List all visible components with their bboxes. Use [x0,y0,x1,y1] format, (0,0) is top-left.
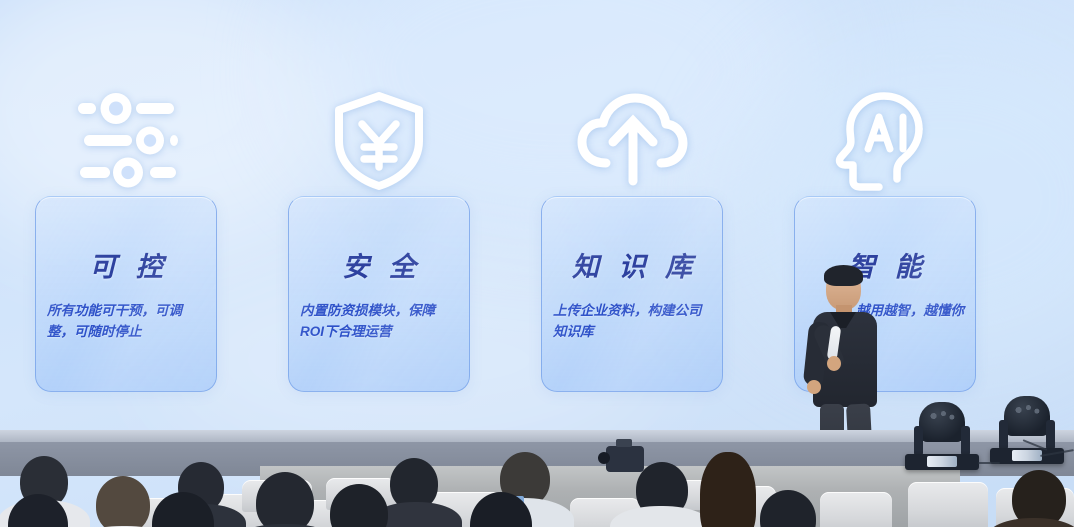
light-yoke [961,426,970,456]
projection-screen: 可 控 所有功能可干预，可调整，可随时停止 安 全 内置防资损模块，保障ROI下… [0,0,1074,448]
presentation-scene: 可 控 所有功能可干预，可调整，可随时停止 安 全 内置防资损模块，保障ROI下… [0,0,1074,527]
card-title: 可 控 [36,245,216,284]
card-description: 内置防资损模块，保障ROI下合理运营 [300,301,458,343]
presenter [798,268,894,448]
chair [820,492,892,527]
cloud-upload-icon [541,86,723,196]
light-head [1004,396,1050,436]
card-description: 上传企业资料，构建公司知识库 [553,301,711,343]
card-title: 知 识 库 [542,245,722,284]
chair [908,482,988,527]
ai-head-icon [794,86,976,196]
broadcast-camera [606,446,644,472]
card-title: 安 全 [289,245,469,284]
feature-card[interactable]: 可 控 所有功能可干预，可调整，可随时停止 [35,196,217,392]
card-description: 所有功能可干预，可调整，可随时停止 [47,301,205,343]
light-lens [927,456,957,467]
audience-head [96,476,150,527]
presenter-hair [824,265,863,286]
shield-yuan-icon [288,86,470,196]
audience-head [256,472,314,527]
moving-head-light [905,398,979,470]
light-yoke [1046,420,1055,450]
sliders-icon [35,86,217,196]
presenter-hand [807,380,821,394]
light-head [919,402,965,442]
light-lens [1012,450,1042,461]
presenter-hand [827,356,841,371]
light-yoke [999,420,1008,450]
light-yoke [914,426,923,456]
feature-card[interactable]: 知 识 库 上传企业资料，构建公司知识库 [541,196,723,392]
power-cable [978,462,1000,464]
feature-card[interactable]: 安 全 内置防资损模块，保障ROI下合理运营 [288,196,470,392]
audience-head-long-hair [700,452,756,527]
